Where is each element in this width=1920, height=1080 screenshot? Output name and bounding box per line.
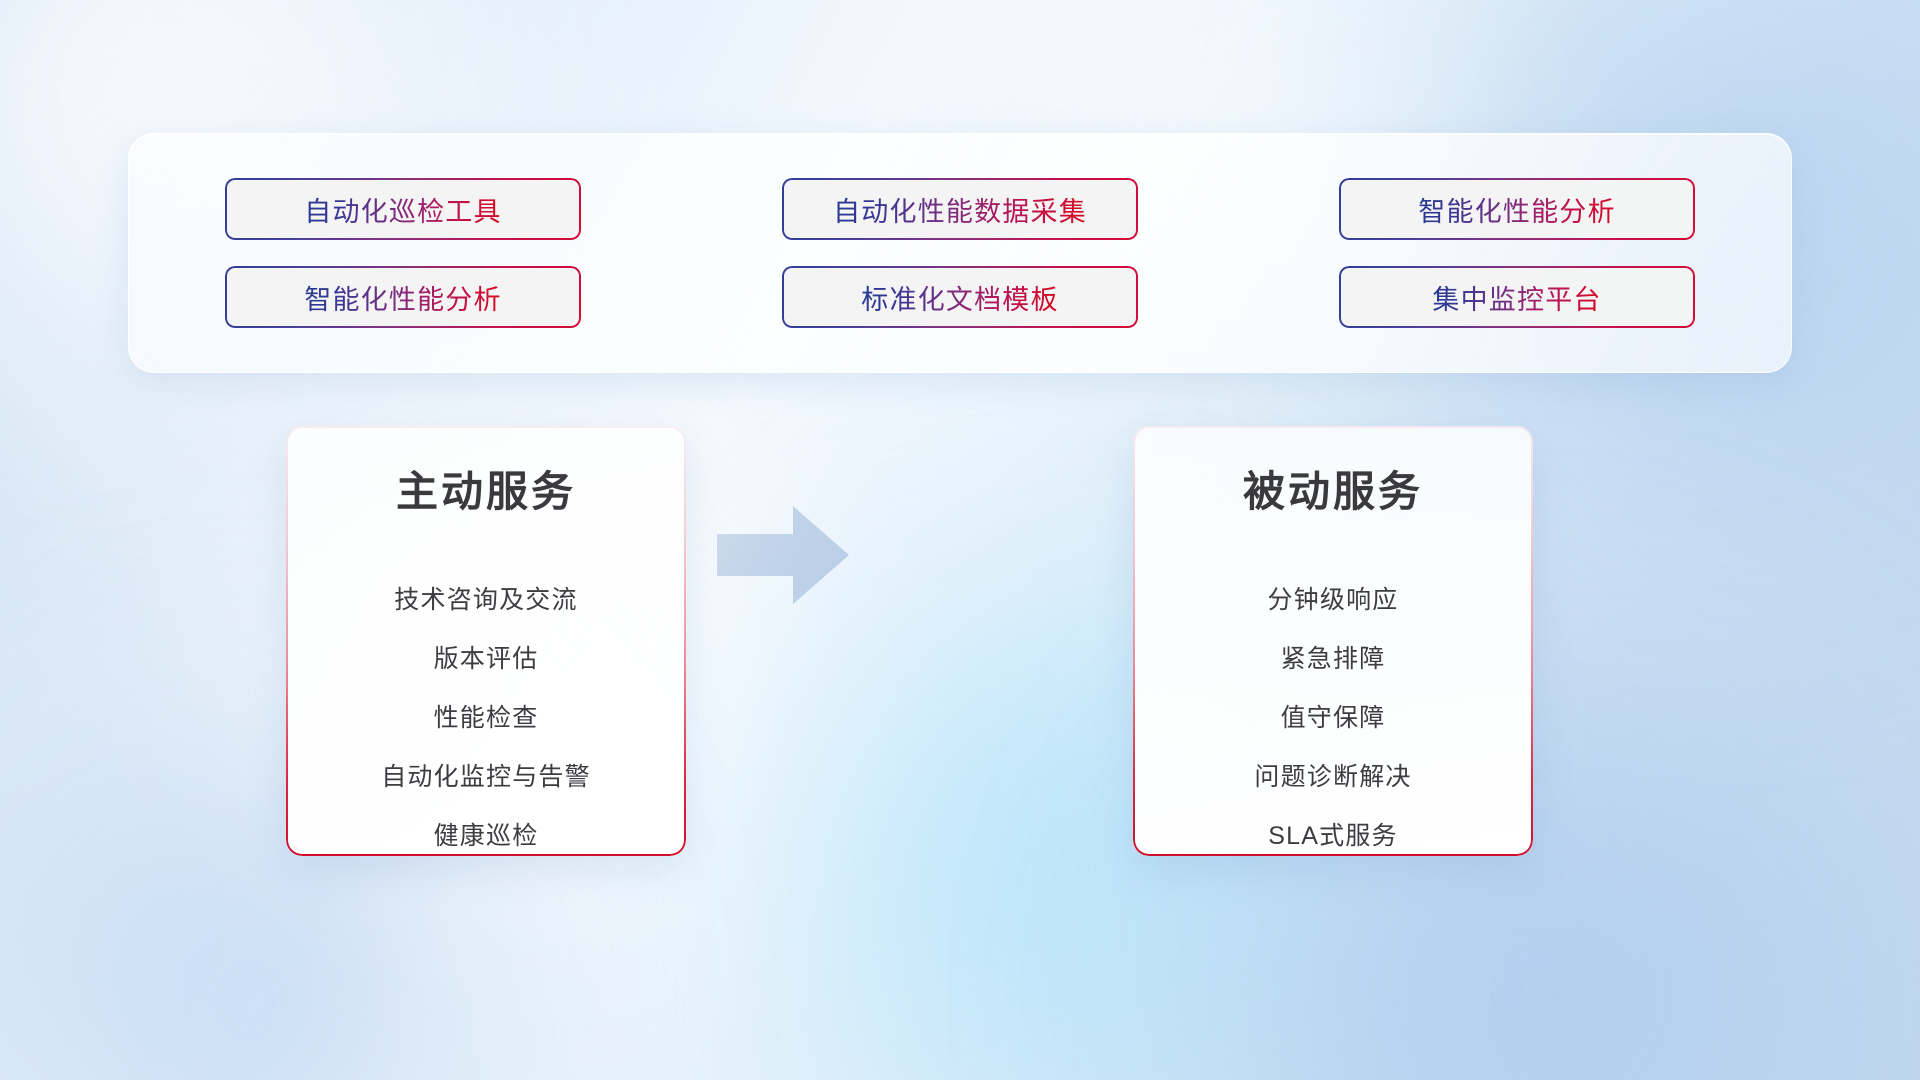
list-item: 分钟级响应 <box>1267 571 1398 630</box>
service-card-title: 被动服务 <box>1243 458 1423 519</box>
list-item: 紧急排障 <box>1281 630 1386 689</box>
service-card-reactive: 被动服务 分钟级响应 紧急排障 值守保障 问题诊断解决 SLA式服务 <box>1133 426 1533 856</box>
capability-pill-standardized-document-template[interactable]: 标准化文档模板 <box>782 266 1138 328</box>
list-item: 版本评估 <box>434 630 539 689</box>
service-card-list: 技术咨询及交流 版本评估 性能检查 自动化监控与告警 健康巡检 <box>286 571 686 856</box>
service-card-inner: 主动服务 技术咨询及交流 版本评估 性能检查 自动化监控与告警 健康巡检 <box>286 426 686 856</box>
capability-pill-label: 智能化性能分析 <box>304 278 501 317</box>
capability-pill-label: 智能化性能分析 <box>1418 190 1615 229</box>
capabilities-panel: 自动化巡检工具 自动化性能数据采集 智能化性能分析 智能化性能分析 标准化文档模… <box>128 133 1792 373</box>
list-item: 自动化监控与告警 <box>381 748 591 807</box>
capability-pill-label: 集中监控平台 <box>1432 278 1601 317</box>
list-item: 健康巡检 <box>434 807 539 856</box>
list-item: 性能检查 <box>434 689 539 748</box>
right-arrow-icon <box>713 500 853 610</box>
service-card-title: 主动服务 <box>396 458 576 519</box>
capability-pill-intelligent-performance-analysis[interactable]: 智能化性能分析 <box>225 266 581 328</box>
capability-pill-automated-inspection-tool[interactable]: 自动化巡检工具 <box>225 178 581 240</box>
capability-pill-label: 自动化性能数据采集 <box>833 190 1087 229</box>
list-item: 问题诊断解决 <box>1254 748 1411 807</box>
capability-pill-intelligent-performance-analysis-top[interactable]: 智能化性能分析 <box>1339 178 1695 240</box>
service-card-inner: 被动服务 分钟级响应 紧急排障 值守保障 问题诊断解决 SLA式服务 <box>1133 426 1533 856</box>
capabilities-row-1: 自动化巡检工具 自动化性能数据采集 智能化性能分析 <box>225 178 1695 240</box>
service-card-proactive: 主动服务 技术咨询及交流 版本评估 性能检查 自动化监控与告警 健康巡检 <box>286 426 686 856</box>
service-card-list: 分钟级响应 紧急排障 值守保障 问题诊断解决 SLA式服务 <box>1133 571 1533 856</box>
capability-pill-centralized-monitoring-platform[interactable]: 集中监控平台 <box>1339 266 1695 328</box>
capability-pill-label: 自动化巡检工具 <box>304 190 501 229</box>
list-item: SLA式服务 <box>1268 807 1397 856</box>
list-item: 值守保障 <box>1281 689 1386 748</box>
capabilities-row-2: 智能化性能分析 标准化文档模板 集中监控平台 <box>225 266 1695 328</box>
capability-pill-label: 标准化文档模板 <box>861 278 1058 317</box>
capability-pill-automated-performance-data-collection[interactable]: 自动化性能数据采集 <box>782 178 1138 240</box>
list-item: 技术咨询及交流 <box>394 571 577 630</box>
